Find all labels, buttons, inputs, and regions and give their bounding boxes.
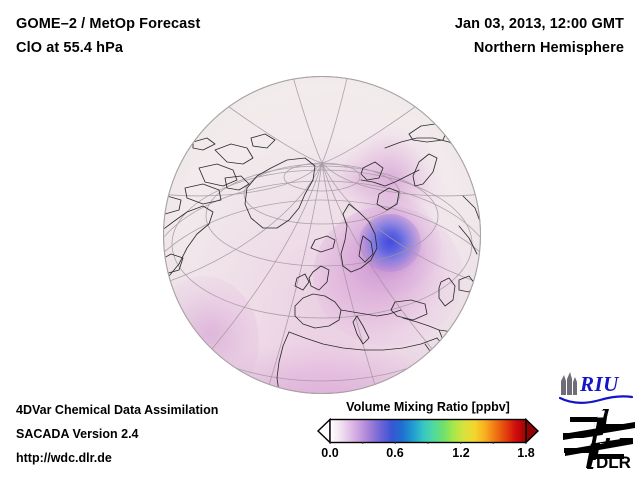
dlr-wordmark: DLR <box>596 453 631 470</box>
colorbar-tick-labels: 0.0 0.6 1.2 1.8 <box>314 446 542 466</box>
coastline-western-europe <box>295 294 341 328</box>
globe-disc <box>163 76 481 394</box>
coastline-siberia <box>385 138 481 176</box>
field-south-limb <box>163 226 481 394</box>
coastline-novaya-zemlya <box>413 154 437 186</box>
footer-version: SACADA Version 2.4 <box>16 427 139 441</box>
coastline-iceland <box>311 236 335 252</box>
field-background-haze <box>163 76 481 394</box>
header-region: Northern Hemisphere <box>474 40 624 56</box>
coastline-north-africa <box>289 332 437 350</box>
page-title-species: ClO at 55.4 hPa <box>16 40 123 56</box>
map-vector-overlay <box>163 76 481 394</box>
footer-method: 4DVar Chemical Data Assimilation <box>16 403 218 417</box>
coastline-mediterranean-north <box>341 310 401 316</box>
coastline-scandinavia <box>341 204 377 272</box>
riu-wordmark: RIU <box>579 372 620 396</box>
header-datetime: Jan 03, 2013, 12:00 GMT <box>455 16 624 32</box>
colorbar-tick-label-0: 0.0 <box>321 446 338 460</box>
coastline-italy <box>353 316 369 344</box>
colorbar-arrow-high <box>526 420 538 443</box>
colorbar: Volume Mixing Ratio [ppbv] <box>314 400 542 472</box>
coastlines <box>163 116 481 392</box>
field-europe-plume <box>313 206 463 346</box>
colorbar-tick-label-3: 1.8 <box>517 446 534 460</box>
coastline-white-sea <box>377 188 399 210</box>
coastline-canadian-arctic <box>215 144 253 164</box>
colorbar-arrow-low <box>318 420 330 443</box>
dlr-logo: DLR <box>562 408 636 470</box>
field-west-limb <box>163 276 259 394</box>
field-clo-maximum-halo <box>341 196 441 294</box>
globe-map <box>163 76 481 394</box>
colorbar-gradient <box>314 418 542 444</box>
coastline-svalbard <box>361 162 383 180</box>
footer-url[interactable]: http://wdc.dlr.de <box>16 451 112 465</box>
coastline-greenland <box>245 158 315 228</box>
colorbar-title: Volume Mixing Ratio [ppbv] <box>314 400 542 414</box>
figure-canvas: GOME–2 / MetOp Forecast ClO at 55.4 hPa … <box>0 0 640 480</box>
graticule-meridians <box>163 76 481 392</box>
coastline-caspian-sea <box>439 278 455 306</box>
coastline-north-america <box>163 206 213 284</box>
page-title-instrument: GOME–2 / MetOp Forecast <box>16 16 200 32</box>
riu-wave-icon <box>560 396 632 402</box>
graticule-parallels <box>163 163 481 394</box>
coastline-british-isles <box>309 266 329 290</box>
coastline-black-sea <box>391 300 427 320</box>
field-clo-maximum-core <box>359 214 421 272</box>
globe-limb-shading <box>163 76 481 394</box>
coastline-arabia <box>439 330 469 358</box>
riu-logo: RIU <box>558 371 634 405</box>
colorbar-tick-label-1: 0.6 <box>386 446 403 460</box>
field-siberia-plume <box>327 110 475 252</box>
colorbar-tick-label-2: 1.2 <box>452 446 469 460</box>
colorbar-bar <box>330 420 526 443</box>
field-pole-wisp <box>286 127 410 228</box>
coastline-red-sea <box>425 344 451 386</box>
riu-tower-icon <box>561 372 577 395</box>
